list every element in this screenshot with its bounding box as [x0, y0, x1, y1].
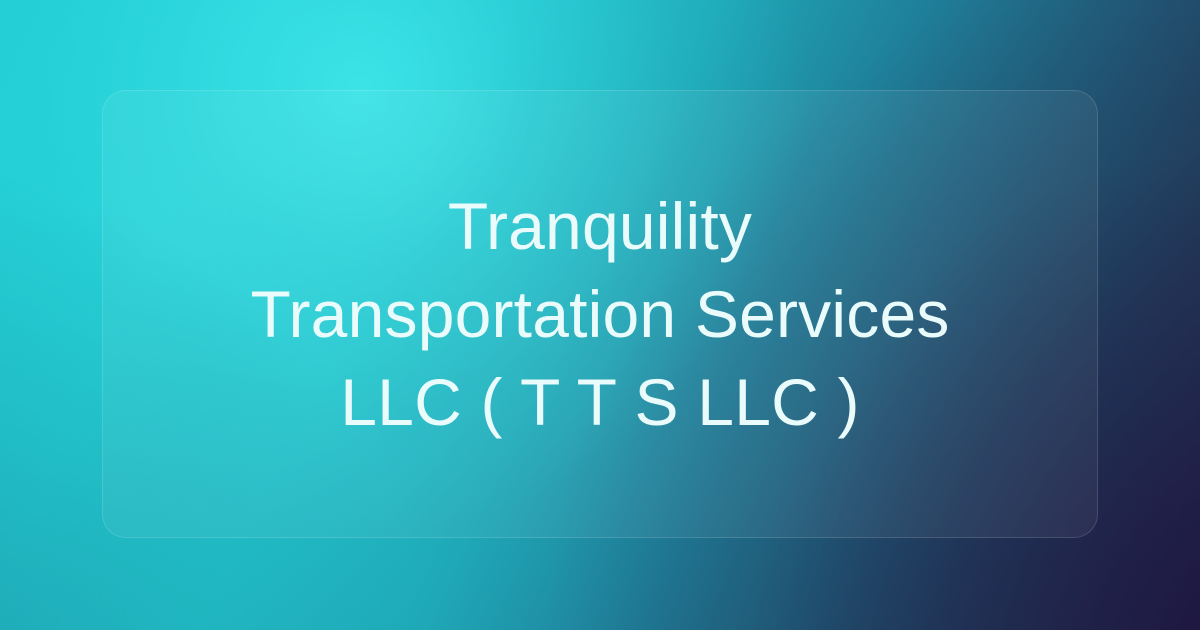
- page-title: Tranquility Transportation Services LLC …: [250, 182, 950, 446]
- content-card-panel: Tranquility Transportation Services LLC …: [102, 90, 1098, 538]
- og-preview-card: Tranquility Transportation Services LLC …: [0, 0, 1200, 630]
